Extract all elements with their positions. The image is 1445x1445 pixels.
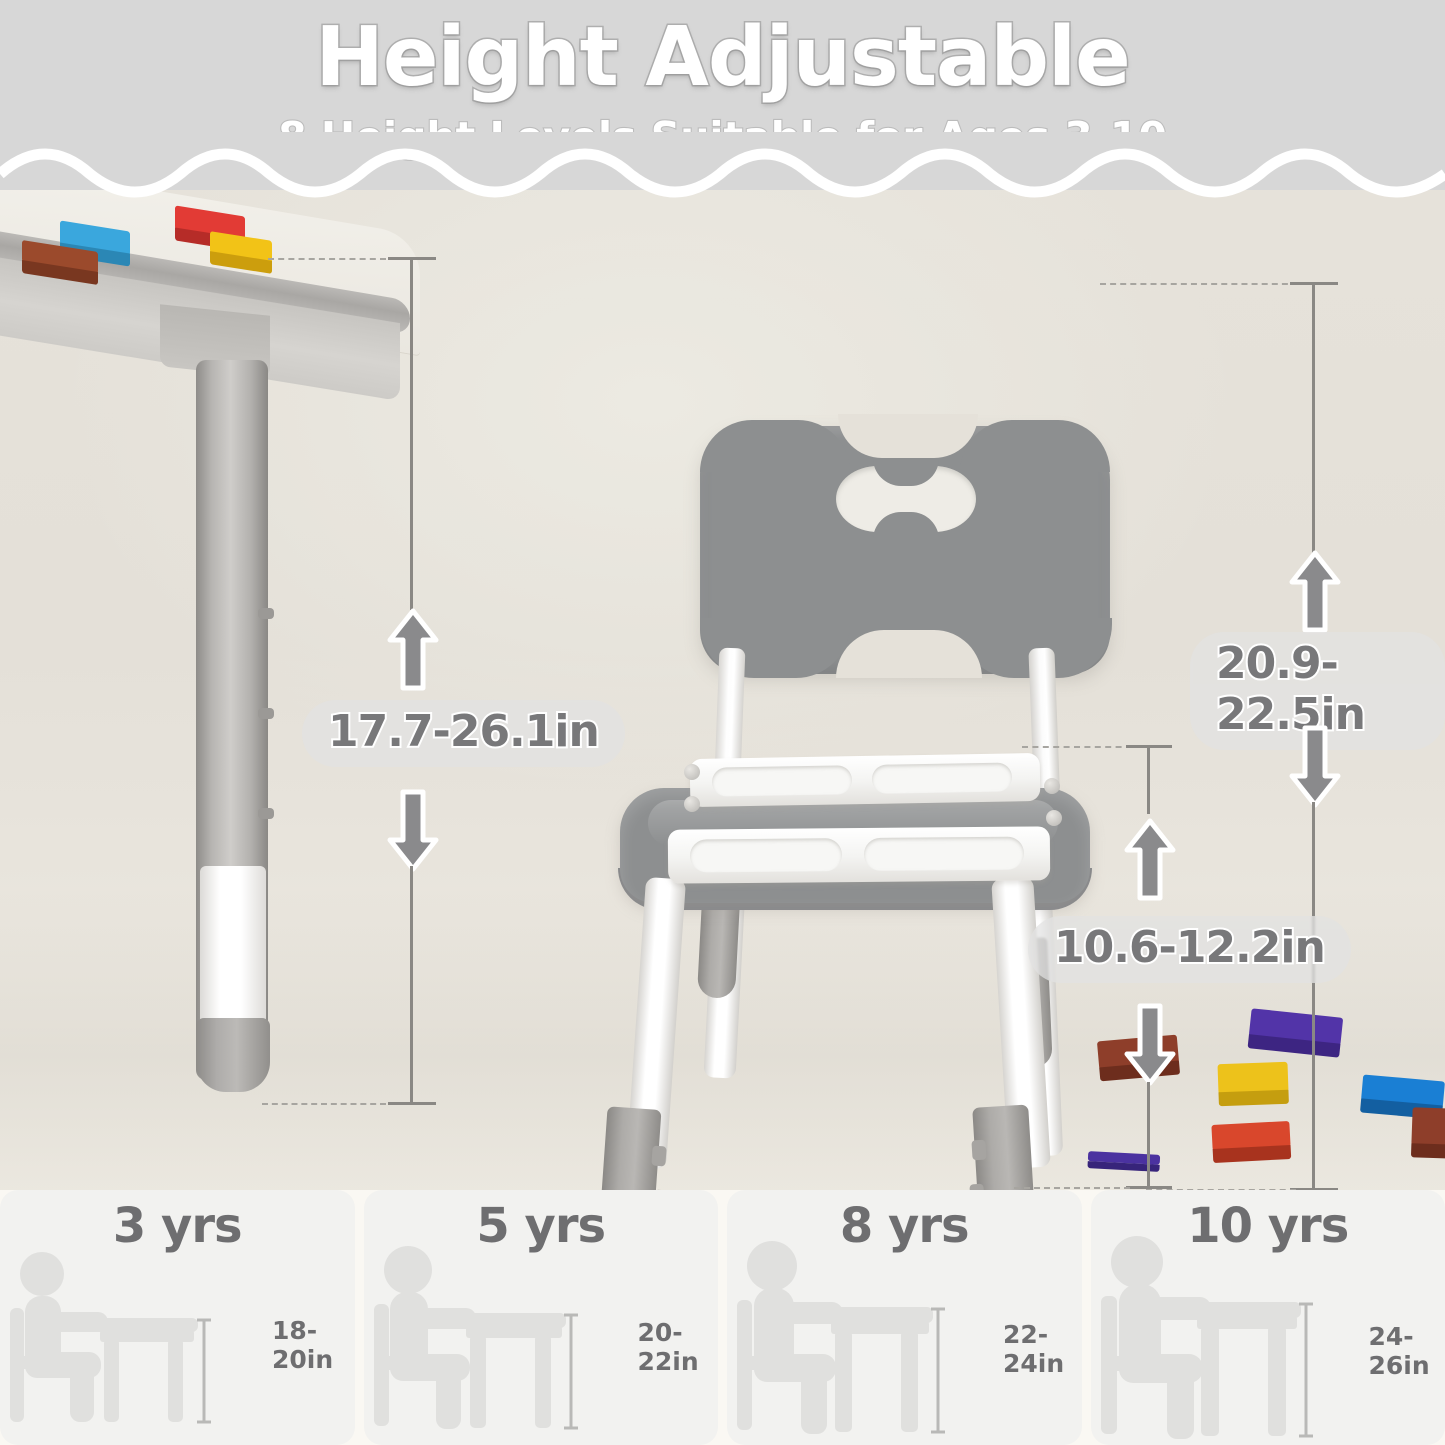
table-leg-notch: [258, 608, 274, 619]
measure-value-seat-height: 10.6-12.2in: [1054, 922, 1325, 973]
age-card-dimension: 18-20in: [272, 1316, 355, 1374]
measure-line-upper: [1312, 283, 1315, 553]
floor-block-red: [1211, 1121, 1290, 1151]
backrest-top-wave-right: [960, 420, 1110, 472]
measure-pill-table-height: 17.7-26.1in: [302, 700, 625, 767]
leader-line-top: [1022, 746, 1132, 748]
measure-value-table-height: 17.7-26.1in: [328, 706, 599, 757]
chair-leg-notch: [971, 1140, 986, 1161]
floor-block-yellow: [1217, 1062, 1288, 1094]
chair-crossbar-upper: [690, 753, 1041, 807]
product-infographic: 17.7-26.1in 20.9-22.5in: [0, 0, 1445, 1445]
child-at-table-illustration: [735, 1234, 997, 1442]
age-card-dimension: 20-22in: [638, 1318, 719, 1376]
chair-screw: [1046, 810, 1062, 826]
table-leg-notch: [258, 808, 274, 819]
backrest-bottom-dip: [836, 630, 982, 678]
age-guide-row: 3 yrs: [0, 1190, 1445, 1445]
leader-line-bottom: [262, 1103, 386, 1105]
chair-screw: [684, 764, 700, 780]
age-card-8yrs[interactable]: 8 yrs: [727, 1190, 1082, 1445]
measure-pill-seat-height: 10.6-12.2in: [1028, 916, 1351, 983]
chair-screw: [1044, 778, 1060, 794]
age-card-dimension: 22-24in: [1003, 1320, 1082, 1378]
table-foot-cap: [196, 1018, 270, 1092]
measure-cap-bottom: [1126, 1186, 1172, 1189]
backrest-top-dip: [838, 414, 978, 458]
chair-screw: [684, 796, 700, 812]
table-leg-notch: [258, 708, 274, 719]
age-card-dimension: 24-26in: [1369, 1322, 1445, 1380]
measure-line-lower: [1312, 802, 1315, 1190]
chair-leg-notch: [651, 1146, 666, 1167]
child-at-table-illustration: [1099, 1234, 1361, 1445]
age-card-3yrs[interactable]: 3 yrs: [0, 1190, 355, 1445]
child-at-table-illustration: [8, 1234, 270, 1434]
measure-line-upper: [410, 258, 413, 610]
measure-line-lower: [410, 866, 413, 1104]
child-at-table-illustration: [372, 1234, 634, 1439]
measure-cap-bottom: [388, 1102, 436, 1105]
leader-line-top: [1100, 283, 1298, 285]
page-title: Height Adjustable: [0, 10, 1445, 105]
leader-line-bottom: [1014, 1187, 1130, 1189]
age-card-10yrs[interactable]: 10 yrs: [1091, 1190, 1445, 1445]
age-card-5yrs[interactable]: 5 yrs: [364, 1190, 719, 1445]
measure-line-upper: [1147, 746, 1150, 814]
measure-line-lower: [1147, 1082, 1150, 1188]
leader-line-top: [268, 258, 386, 260]
chair-crossbar-lower: [668, 826, 1050, 883]
scallop-divider: [0, 132, 1445, 202]
floor-block-brown-2: [1411, 1107, 1445, 1147]
